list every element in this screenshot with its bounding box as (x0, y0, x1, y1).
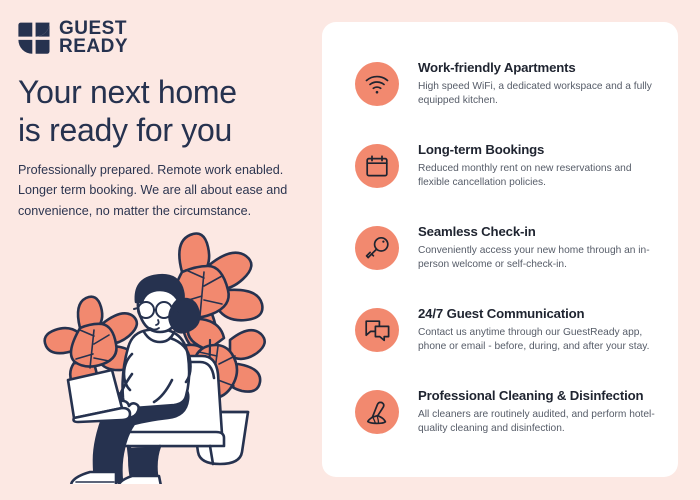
features-list: Work-friendly Apartments High speed WiFi… (355, 60, 664, 470)
list-item[interactable]: Seamless Check-in Conveniently access yo… (355, 224, 664, 306)
brand-word-bottom: READY (59, 38, 128, 56)
left-column: GUEST READY Your next home is ready for … (0, 0, 320, 500)
feature-title: Work-friendly Apartments (418, 60, 664, 76)
page-title: Your next home is ready for you (18, 74, 308, 150)
guestready-quadrant-logo-icon (18, 22, 50, 55)
feature-description: Conveniently access your new home throug… (418, 244, 664, 273)
feature-title: Seamless Check-in (418, 224, 664, 240)
feature-text: 24/7 Guest Communication Contact us anyt… (418, 306, 664, 355)
broom-icon (355, 390, 399, 434)
feature-text: Professional Cleaning & Disinfection All… (418, 388, 664, 437)
feature-text: Long-term Bookings Reduced monthly rent … (418, 142, 664, 191)
list-item[interactable]: Professional Cleaning & Disinfection All… (355, 388, 664, 470)
feature-title: 24/7 Guest Communication (418, 306, 664, 322)
brand-wordmark: GUEST READY (59, 20, 128, 57)
hero-subcopy: Professionally prepared. Remote work ena… (18, 160, 290, 221)
list-item[interactable]: 24/7 Guest Communication Contact us anyt… (355, 306, 664, 388)
feature-title: Professional Cleaning & Disinfection (418, 388, 664, 404)
list-item[interactable]: Work-friendly Apartments High speed WiFi… (355, 60, 664, 142)
features-card: Work-friendly Apartments High speed WiFi… (322, 22, 678, 477)
feature-title: Long-term Bookings (418, 142, 664, 158)
brand-logo[interactable]: GUEST READY (18, 20, 128, 57)
promo-page: GUEST READY Your next home is ready for … (0, 0, 700, 500)
wifi-icon (355, 62, 399, 106)
hero-illustration (32, 228, 304, 484)
feature-text: Work-friendly Apartments High speed WiFi… (418, 60, 664, 109)
key-icon (355, 226, 399, 270)
list-item[interactable]: Long-term Bookings Reduced monthly rent … (355, 142, 664, 224)
feature-description: High speed WiFi, a dedicated workspace a… (418, 80, 664, 109)
calendar-icon (355, 144, 399, 188)
feature-description: Contact us anytime through our GuestRead… (418, 326, 664, 355)
chat-bubbles-icon (355, 308, 399, 352)
feature-description: Reduced monthly rent on new reservations… (418, 162, 664, 191)
woman-working-on-laptop-illustration-icon (32, 228, 304, 484)
feature-text: Seamless Check-in Conveniently access yo… (418, 224, 664, 273)
feature-description: All cleaners are routinely audited, and … (418, 408, 664, 437)
